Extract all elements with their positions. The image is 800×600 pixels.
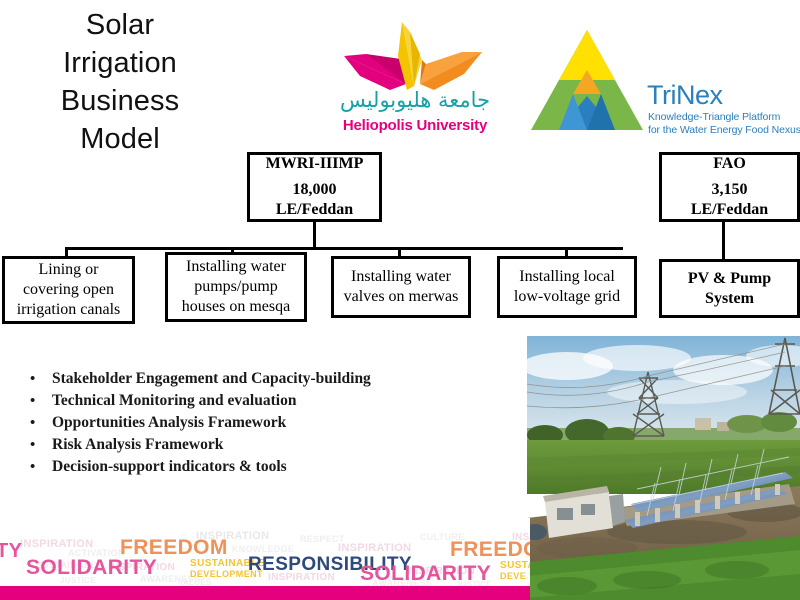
- title-line: Business: [10, 82, 230, 120]
- list-item: • Decision-support indicators & tools: [30, 456, 500, 478]
- title-line: Model: [10, 120, 230, 158]
- mwri-box-unit: LE/Feddan: [250, 200, 379, 220]
- bullet-marker-icon: •: [30, 434, 52, 456]
- photo-illustration: [527, 336, 800, 600]
- word-cloud-word: FREEDOM: [450, 538, 530, 562]
- box-line: houses on mesqa: [168, 297, 304, 317]
- fao-box-title: FAO: [662, 154, 797, 174]
- solar-pv-irrigation-field-photo: [527, 336, 800, 600]
- box-line: irrigation canals: [5, 300, 132, 320]
- mwri-box-amount: 18,000: [250, 180, 379, 200]
- heliopolis-university-logo: جامعة هليوبوليس Heliopolis University: [330, 20, 500, 145]
- box-line: PV & Pump: [662, 269, 797, 289]
- list-item: • Stakeholder Engagement and Capacity-bu…: [30, 368, 500, 390]
- slide-canvas: Solar Irrigation Business Model جامعة هل…: [0, 0, 800, 600]
- word-cloud-word: SOLIDARITY: [360, 562, 491, 586]
- box-line: Installing water: [168, 257, 304, 277]
- box-line: Installing local: [500, 267, 634, 287]
- list-item: • Risk Analysis Framework: [30, 434, 500, 456]
- bullet-marker-icon: •: [30, 456, 52, 478]
- water-valves-box[interactable]: Installing water valves on merwas: [331, 256, 471, 318]
- fao-box-amount: 3,150: [662, 180, 797, 200]
- trinex-logo: TriNex Knowledge-Triangle Platform for t…: [527, 26, 792, 144]
- box-line: pumps/pump: [168, 277, 304, 297]
- list-item: • Technical Monitoring and evaluation: [30, 390, 500, 412]
- heliopolis-arabic-text: جامعة هليوبوليس: [330, 86, 500, 114]
- list-item-label: Technical Monitoring and evaluation: [52, 390, 500, 412]
- trinex-triangle-mark: [527, 26, 647, 138]
- bullet-list: • Stakeholder Engagement and Capacity-bu…: [30, 368, 500, 478]
- list-item-label: Opportunities Analysis Framework: [52, 412, 500, 434]
- connector-mwri-bus: [65, 247, 623, 250]
- word-cloud-word: SUSTAI: [500, 560, 530, 571]
- mwri-box-title: MWRI-IIIMP: [250, 154, 379, 174]
- list-item-label: Stakeholder Engagement and Capacity-buil…: [52, 368, 500, 390]
- list-item-label: Decision-support indicators & tools: [52, 456, 500, 478]
- word-cloud-faint-word: INSPIRATION: [338, 542, 411, 554]
- lining-canals-box[interactable]: Lining or covering open irrigation canal…: [2, 256, 135, 324]
- word-cloud-word: FREEDOM: [120, 536, 228, 560]
- word-cloud-word: DEVE: [500, 571, 526, 581]
- bullet-marker-icon: •: [30, 412, 52, 434]
- bullet-marker-icon: •: [30, 368, 52, 390]
- box-line: valves on merwas: [334, 287, 468, 307]
- list-item: • Opportunities Analysis Framework: [30, 412, 500, 434]
- mwri-iiimp-box[interactable]: MWRI-IIIMP 18,000 LE/Feddan: [247, 152, 382, 222]
- box-line: Installing water: [334, 267, 468, 287]
- box-line: System: [662, 289, 797, 309]
- word-cloud-faint-word: KNOWLEDGE: [232, 544, 294, 554]
- box-line: Lining or: [5, 260, 132, 280]
- bullet-marker-icon: •: [30, 390, 52, 412]
- trinex-brand-name: TriNex: [647, 82, 723, 109]
- heliopolis-english-text: Heliopolis University: [330, 117, 500, 134]
- water-pumps-box[interactable]: Installing water pumps/pump houses on me…: [165, 252, 307, 322]
- fao-box[interactable]: FAO 3,150 LE/Feddan: [659, 152, 800, 222]
- word-cloud-word: ITY: [0, 540, 22, 563]
- connector-fao-stem: [722, 222, 725, 261]
- box-line: low-voltage grid: [500, 287, 634, 307]
- box-line: covering open: [5, 280, 132, 300]
- fao-box-unit: LE/Feddan: [662, 200, 797, 220]
- list-item-label: Risk Analysis Framework: [52, 434, 500, 456]
- pink-accent-bar: [0, 586, 530, 600]
- lv-grid-box[interactable]: Installing local low-voltage grid: [497, 256, 637, 318]
- pv-pump-system-box[interactable]: PV & Pump System: [659, 259, 800, 318]
- trinex-tagline-line2: for the Water Energy Food Nexus: [648, 124, 800, 136]
- title-line: Solar: [10, 6, 230, 44]
- heliopolis-bird-mark: [330, 20, 500, 92]
- page-title: Solar Irrigation Business Model: [10, 6, 230, 158]
- word-cloud-canvas: INSPIRATIONACTIVATIONSUSTAINABLEJUSTICEI…: [0, 518, 530, 586]
- title-line: Irrigation: [10, 44, 230, 82]
- trinex-tagline-line1: Knowledge-Triangle Platform: [648, 111, 780, 123]
- connector-mwri-stem: [313, 222, 316, 250]
